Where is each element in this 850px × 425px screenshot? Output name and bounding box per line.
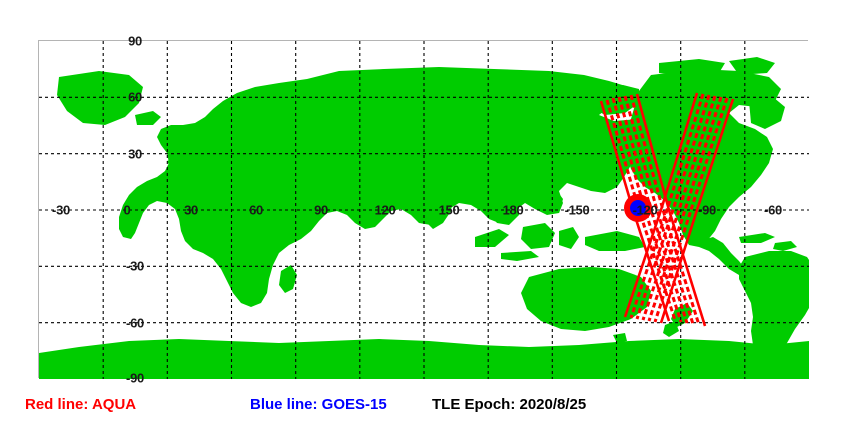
- lon-tick--120: -120: [633, 204, 658, 217]
- lon-tick--30: -30: [52, 204, 70, 217]
- lon-tick-60: 60: [249, 204, 263, 217]
- lon-tick--60: -60: [764, 204, 782, 217]
- legend-goes15-label: Blue line: GOES-15: [250, 397, 387, 412]
- lat-tick--90: -90: [126, 372, 144, 385]
- world-map[interactable]: -30 0 30 60 90 120 150 180 -150 -120 -90…: [38, 40, 808, 378]
- legend-tle-epoch: TLE Epoch: 2020/8/25: [432, 397, 586, 412]
- satellite-tracking-app: -30 0 30 60 90 120 150 180 -150 -120 -90…: [0, 0, 850, 425]
- map-canvas: [39, 41, 809, 379]
- lat-tick-60: 60: [128, 91, 142, 104]
- legend-aqua-label: Red line: AQUA: [25, 397, 136, 412]
- lon-tick--150: -150: [565, 204, 590, 217]
- lon-tick-0: 0: [124, 204, 131, 217]
- lon-tick--90: -90: [698, 204, 716, 217]
- lat-tick--30: -30: [126, 260, 144, 273]
- lon-tick-120: 120: [375, 204, 396, 217]
- lon-tick-180: 180: [503, 204, 524, 217]
- lat-tick--60: -60: [126, 317, 144, 330]
- lat-tick-90: 90: [128, 35, 142, 48]
- lon-tick-90: 90: [314, 204, 328, 217]
- lon-tick-30: 30: [184, 204, 198, 217]
- lat-tick-30: 30: [128, 148, 142, 161]
- lon-tick-150: 150: [439, 204, 460, 217]
- legend-bar: Red line: AQUA Blue line: GOES-15 TLE Ep…: [0, 393, 850, 421]
